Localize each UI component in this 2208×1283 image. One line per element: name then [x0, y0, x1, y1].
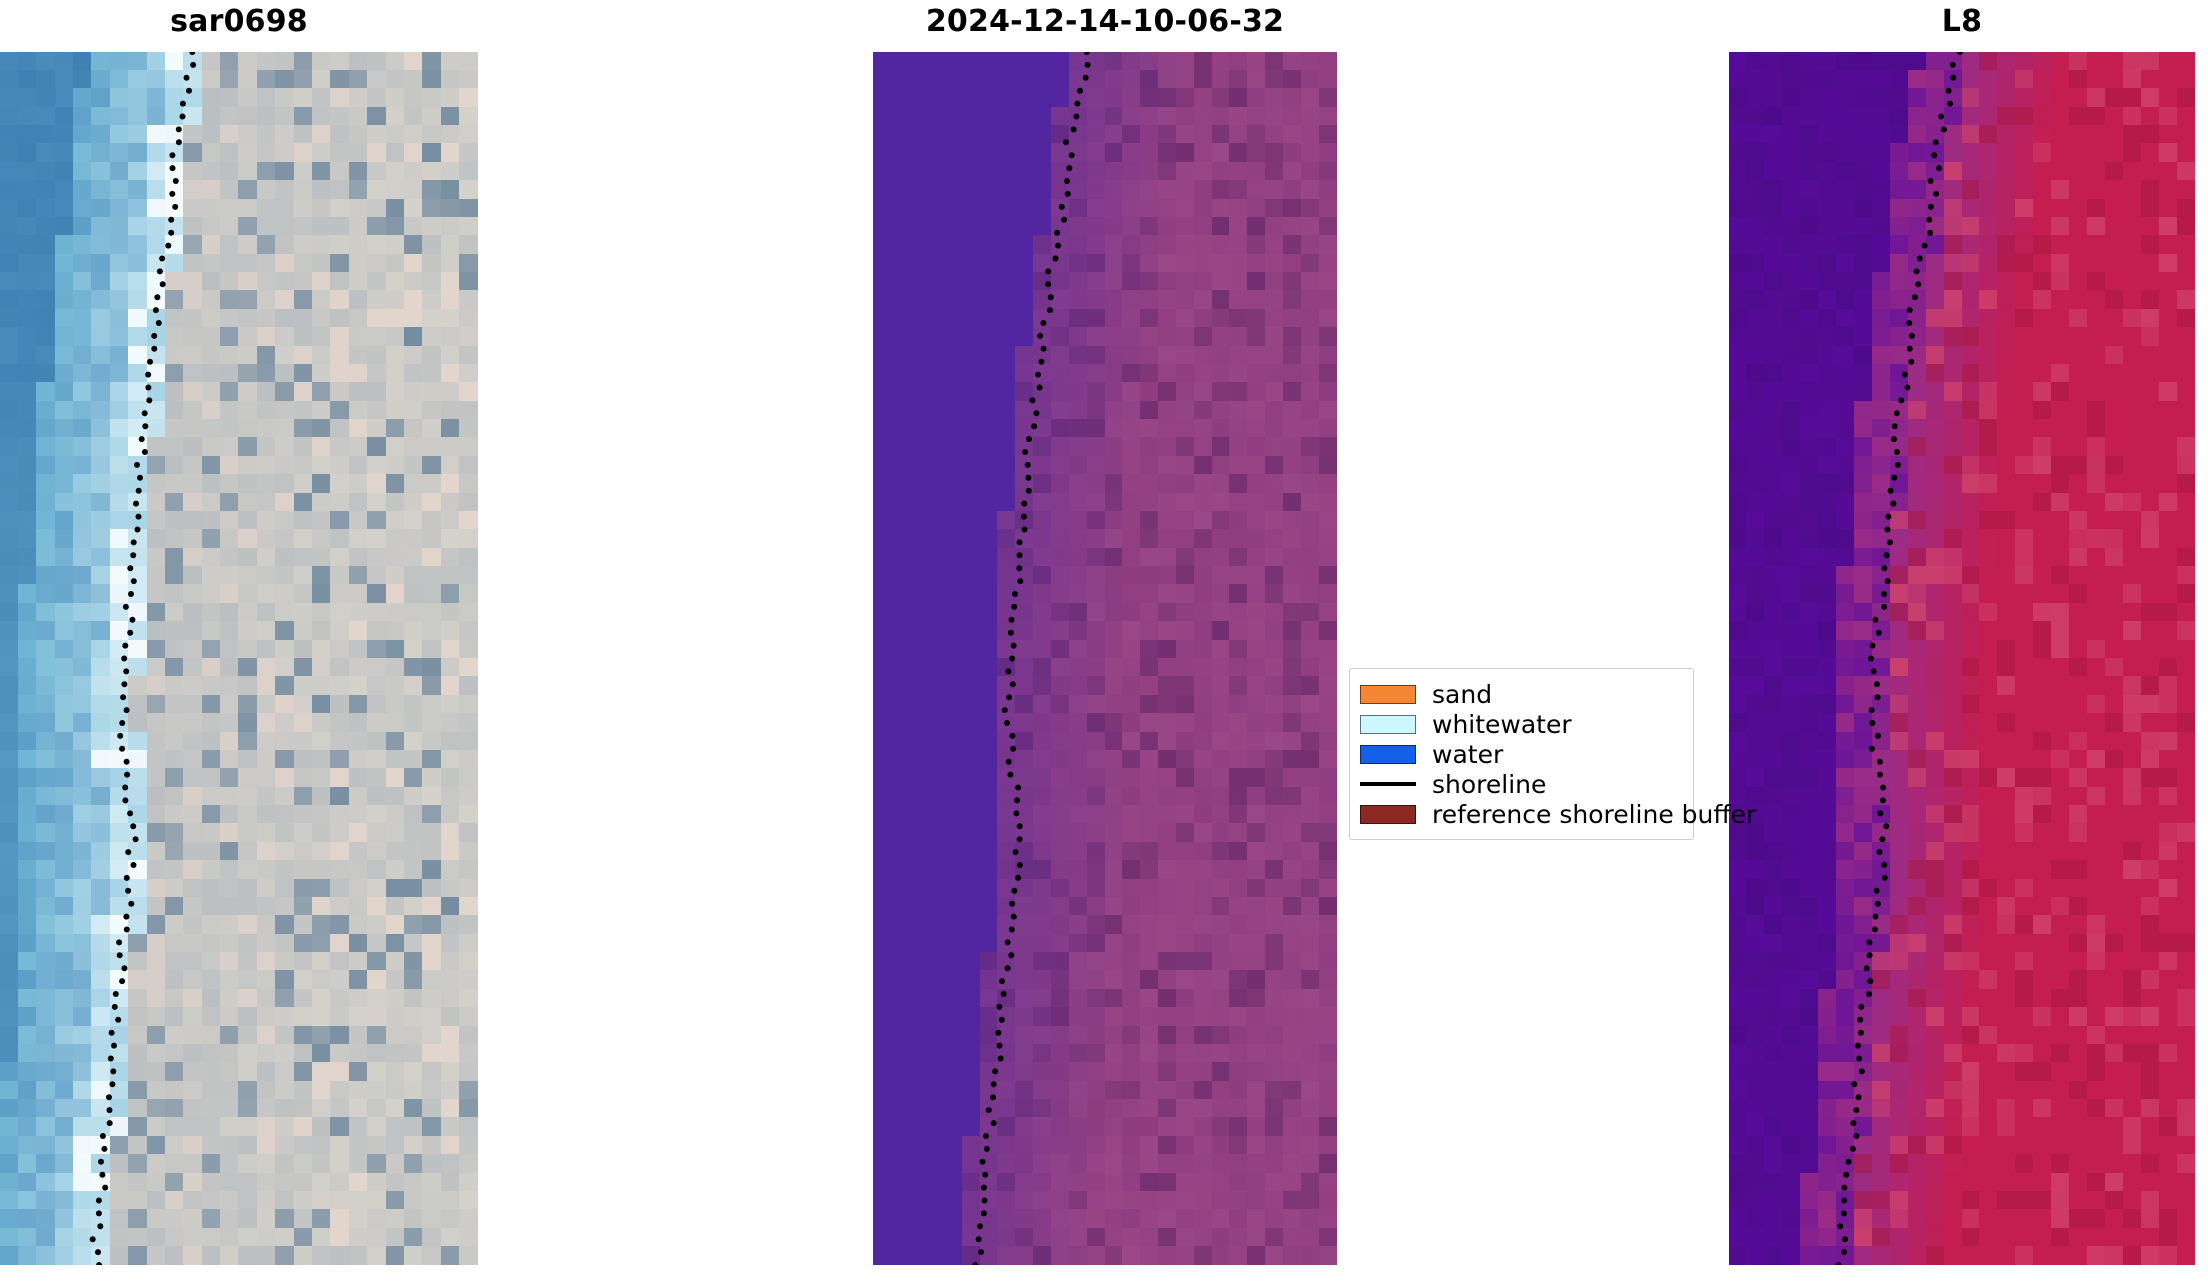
panel-sar — [0, 52, 478, 1265]
panel-title-classified: 2024-12-14-10-06-32 — [873, 4, 1337, 40]
panel-l8 — [1729, 52, 2195, 1265]
legend-box: sand whitewater water shoreline referenc… — [1349, 668, 1694, 840]
panel-title-sar: sar0698 — [0, 4, 478, 40]
l8-raster — [1729, 52, 2195, 1265]
panel-classified — [873, 52, 1337, 1265]
legend-label-whitewater: whitewater — [1432, 711, 1572, 738]
legend-swatch-shoreline — [1360, 782, 1416, 786]
figure-canvas: sar0698 2024-12-14-10-06-32 L8 sand whit… — [0, 0, 2208, 1283]
legend-label-water: water — [1432, 741, 1503, 768]
sar-raster — [0, 52, 478, 1265]
classified-raster — [873, 52, 1337, 1265]
legend-label-sand: sand — [1432, 681, 1492, 708]
legend-item-shoreline: shoreline — [1360, 769, 1681, 799]
legend-swatch-whitewater — [1360, 715, 1416, 734]
legend-item-whitewater: whitewater — [1360, 709, 1681, 739]
legend-swatch-water — [1360, 745, 1416, 764]
legend-item-reference-buffer: reference shoreline buffer — [1360, 799, 1681, 829]
legend-item-water: water — [1360, 739, 1681, 769]
legend-swatch-sand — [1360, 685, 1416, 704]
legend-label-reference-buffer: reference shoreline buffer — [1432, 801, 1756, 828]
legend-swatch-reference-buffer — [1360, 805, 1416, 824]
panel-title-l8: L8 — [1729, 4, 2195, 40]
legend-item-sand: sand — [1360, 679, 1681, 709]
legend-label-shoreline: shoreline — [1432, 771, 1546, 798]
